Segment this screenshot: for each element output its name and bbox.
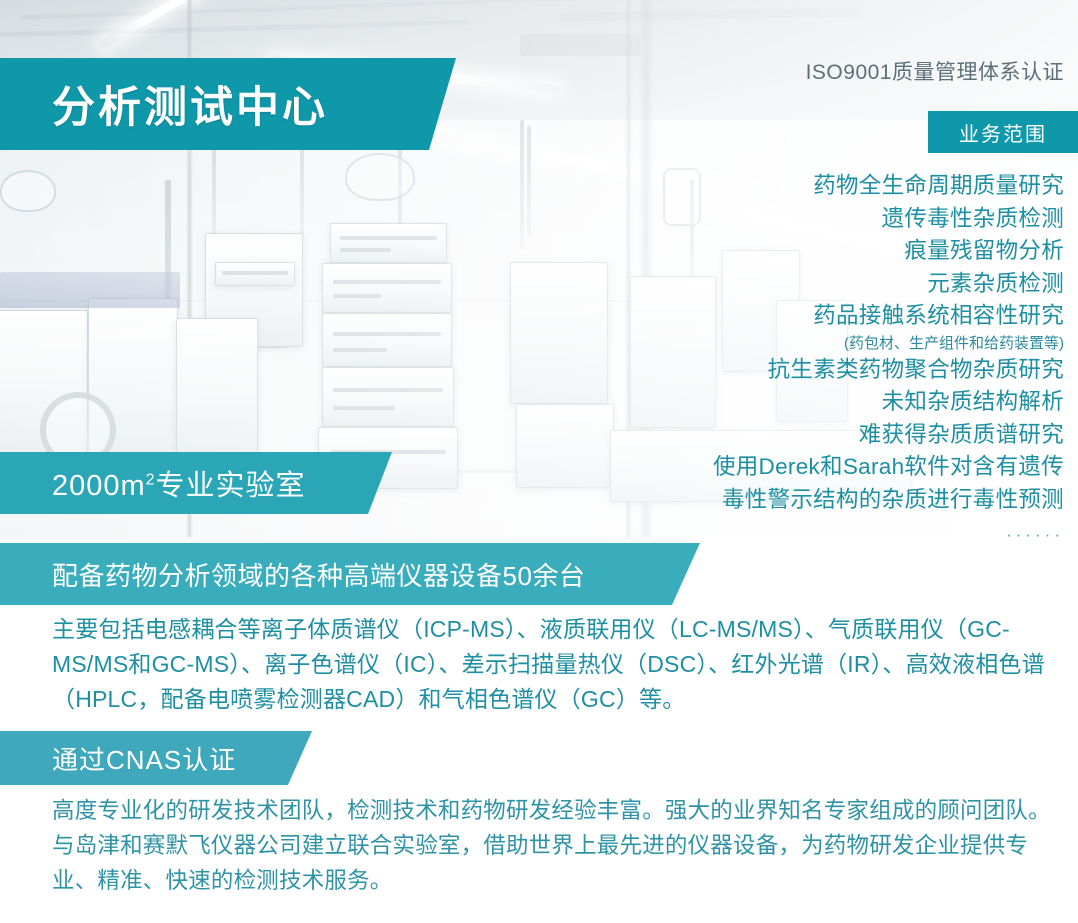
flask-icon-1 [0, 170, 56, 212]
fume-arm-5 [527, 126, 531, 236]
scope-item: 未知杂质结构解析 [644, 386, 1064, 419]
lab-size-superscript: 2 [146, 471, 156, 488]
iso-certification-text: ISO9001质量管理体系认证 [806, 56, 1064, 86]
instrument-right-1 [510, 262, 608, 404]
business-scope-list: 药物全生命周期质量研究 遗传毒性杂质检测 痕量残留物分析 元素杂质检测 药品接触… [644, 170, 1064, 537]
scope-item: 抗生素类药物聚合物杂质研究 [644, 354, 1064, 387]
scope-badge-label: 业务范围 [959, 118, 1047, 147]
cnas-paragraph: 高度专业化的研发技术团队，检测技术和药物研发经验丰富。强大的业界知名专家组成的顾… [52, 793, 1054, 898]
analyzer-left-3 [176, 318, 258, 472]
instrument-right-2 [516, 404, 614, 488]
scope-item: 难获得杂质质谱研究 [644, 419, 1064, 452]
hplc-stack-module-2 [322, 313, 452, 367]
page-title: 分析测试中心 [52, 73, 328, 135]
hplc-stack-module-3 [322, 367, 454, 427]
scope-item: 痕量残留物分析 [644, 235, 1064, 268]
scope-item-note: (药包材、生产组件和给药装置等) [644, 333, 1064, 354]
equipment-banner-title: 配备药物分析领域的各种高端仪器设备50余台 [52, 556, 585, 593]
flask-icon-2 [345, 153, 415, 201]
wall-panel-blue [0, 272, 180, 308]
hplc-stack-module-1 [322, 263, 452, 313]
scope-item: 元素杂质检测 [644, 268, 1064, 301]
scope-item: 毒性警示结构的杂质进行毒性预测 [644, 484, 1064, 517]
main-title-banner: 分析测试中心 [0, 58, 456, 150]
fume-arm-4 [520, 120, 524, 250]
lab-size-prefix: 2000m [52, 470, 146, 502]
ceiling-vent [520, 34, 640, 56]
scope-item: 药物全生命周期质量研究 [644, 170, 1064, 203]
scope-item: 遗传毒性杂质检测 [644, 203, 1064, 236]
equipment-banner: 配备药物分析领域的各种高端仪器设备50余台 [0, 543, 700, 605]
scope-item: 使用Derek和Sarah软件对含有遗传 [644, 451, 1064, 484]
lab-size-suffix: 专业实验室 [156, 470, 306, 502]
hplc-stack-top [330, 223, 447, 263]
scope-badge: 业务范围 [928, 111, 1078, 153]
promotional-page: 分析测试中心 ISO9001质量管理体系认证 业务范围 药物全生命周期质量研究 … [0, 0, 1078, 923]
hero-photo-section: 分析测试中心 ISO9001质量管理体系认证 业务范围 药物全生命周期质量研究 … [0, 0, 1078, 537]
scope-more-dots: ······ [644, 525, 1064, 537]
lab-size-label: 2000m2专业实验室 [52, 462, 306, 504]
cnas-banner: 通过CNAS认证 [0, 731, 312, 785]
scope-item: 药品接触系统相容性研究 [644, 300, 1064, 333]
control-panel [215, 262, 295, 286]
lab-size-banner: 2000m2专业实验室 [0, 452, 392, 514]
cnas-banner-title: 通过CNAS认证 [52, 740, 236, 777]
equipment-paragraph: 主要包括电感耦合等离子体质谱仪（ICP-MS）、液质联用仪（LC-MS/MS）、… [52, 612, 1052, 717]
